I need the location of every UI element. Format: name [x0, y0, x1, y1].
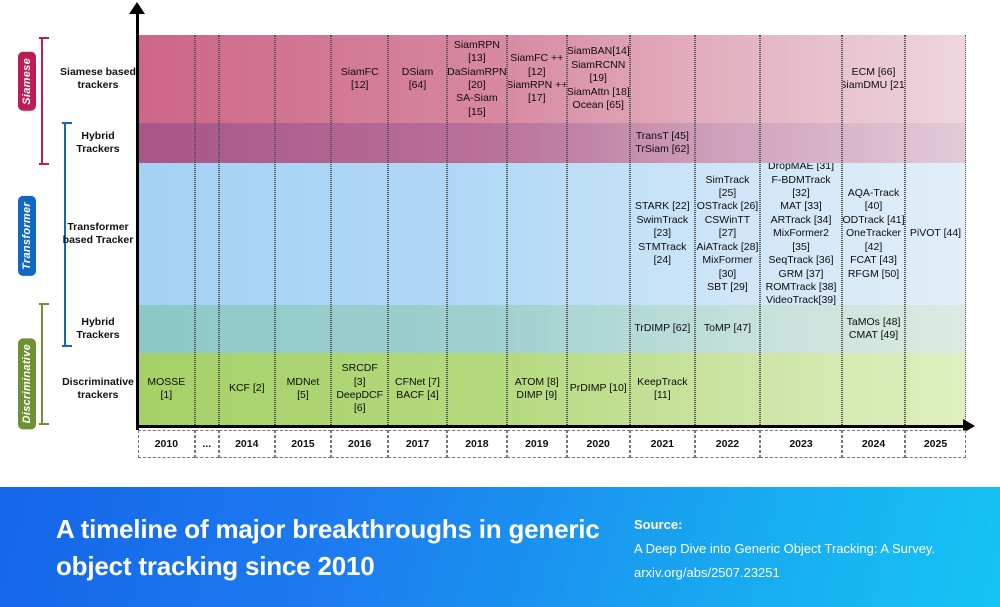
method-label: SiamFC [341, 66, 379, 79]
method-label: [32] [792, 187, 810, 200]
year-tick-2019: 2019 [507, 430, 567, 458]
bottom-banner: A timeline of major breakthroughs in gen… [0, 487, 1000, 607]
cell-2014-row2 [220, 123, 274, 163]
cell-2016-row3 [332, 163, 387, 305]
cell-2010-row4 [139, 305, 194, 353]
method-label: ARTrack [34] [771, 214, 832, 227]
method-label: TrDIMP [62] [634, 322, 690, 335]
cell-2019-row2 [508, 123, 566, 163]
row-label-column: Siamese basedtrackersHybridTrackersTrans… [58, 35, 138, 425]
year-tick-ellipsisellipsisellipsis: ... [195, 430, 219, 458]
method-label: [23] [654, 227, 672, 240]
method-label: SwimTrack [637, 214, 689, 227]
cell-2019-row3 [508, 163, 566, 305]
category-bracket-discriminative [41, 303, 43, 425]
method-label: STMTrack [638, 241, 686, 254]
method-label: [30] [719, 268, 737, 281]
cell-2024-row5 [843, 353, 904, 425]
method-label: TrSiam [62] [635, 143, 689, 156]
method-label: DSiam [402, 66, 434, 79]
method-label: [13] [468, 52, 486, 65]
method-label: OneTracker [846, 227, 901, 240]
cell-2014-row3 [220, 163, 274, 305]
year-tick-2016: 2016 [331, 430, 388, 458]
cell-2023-row3: DropMAE [31]F-BDMTrack[32]MAT [33]ARTrac… [761, 163, 841, 305]
cell-...-row1 [196, 35, 218, 123]
cell-2010-row1 [139, 35, 194, 123]
method-label: [25] [719, 187, 737, 200]
row-label-3: Transformerbased Tracker [58, 163, 138, 305]
cell-2014-row5: KCF [2] [220, 353, 274, 425]
cell-2024-row2 [843, 123, 904, 163]
method-label: SiamDMU [21] [843, 79, 904, 92]
year-column-2023: DropMAE [31]F-BDMTrack[32]MAT [33]ARTrac… [760, 35, 842, 425]
chart-grid: MOSSE[1]KCF [2]MDNet[5]SiamFC[12]SRCDF[3… [138, 35, 966, 425]
method-label: ATOM [8] [515, 376, 559, 389]
method-label: [17] [528, 92, 546, 105]
method-label: [12] [528, 66, 546, 79]
cell-2016-row1: SiamFC[12] [332, 35, 387, 123]
year-tick-2010: 2010 [138, 430, 195, 458]
method-label: ToMP [47] [704, 322, 751, 335]
cell-2018-row1: SiamRPN[13]DaSiamRPN[20]SA-Siam[15] [448, 35, 506, 123]
cell-2014-row4 [220, 305, 274, 353]
cell-2017-row2 [389, 123, 446, 163]
year-column-2025: PiVOT [44] [905, 35, 966, 425]
method-label: [20] [468, 79, 486, 92]
cell-2010-row2 [139, 123, 194, 163]
method-label: MDNet [287, 376, 320, 389]
cell-2018-row3 [448, 163, 506, 305]
cell-2021-row5: KeepTrack[11] [631, 353, 694, 425]
year-tick-2025: 2025 [905, 430, 966, 458]
cell-2018-row4 [448, 305, 506, 353]
year-tick-2017: 2017 [388, 430, 447, 458]
method-label: [27] [719, 227, 737, 240]
cell-2018-row2 [448, 123, 506, 163]
cell-2022-row5 [696, 353, 759, 425]
cell-2025-row5 [906, 353, 965, 425]
year-column-2010: MOSSE[1] [138, 35, 195, 425]
method-label: OSTrack [26] [697, 200, 758, 213]
cell-2016-row5: SRCDF[3]DeepDCF[6] [332, 353, 387, 425]
method-label: [12] [351, 79, 369, 92]
cell-2022-row4: ToMP [47] [696, 305, 759, 353]
method-label: PrDIMP [10] [570, 382, 627, 395]
method-label: [24] [654, 254, 672, 267]
method-label: SiamAttn [18] [568, 86, 629, 99]
method-label: PiVOT [44] [910, 227, 961, 240]
year-tick-2020: 2020 [567, 430, 630, 458]
cell-2023-row4 [761, 305, 841, 353]
method-label: STARK [22] [635, 200, 690, 213]
method-label: MixFormer2 [773, 227, 829, 240]
row-label-1: Siamese basedtrackers [58, 35, 138, 123]
method-label: ODTrack [41] [843, 214, 904, 227]
method-label: KCF [2] [229, 382, 265, 395]
source-label: Source: [634, 513, 979, 537]
row-label-5: Discriminativetrackers [58, 353, 138, 425]
method-label: [35] [792, 241, 810, 254]
cell-2021-row4: TrDIMP [62] [631, 305, 694, 353]
year-column-2022: SimTrack[25]OSTrack [26]CSWinTT[27]AiATr… [695, 35, 760, 425]
cell-2020-row1: SiamBAN[14]SiamRCNN[19]SiamAttn [18]Ocea… [568, 35, 629, 123]
method-label: SRCDF [342, 362, 378, 375]
x-axis [136, 425, 966, 428]
cell-2017-row1: DSiam[64] [389, 35, 446, 123]
method-label: [40] [865, 200, 883, 213]
year-column-2018: SiamRPN[13]DaSiamRPN[20]SA-Siam[15] [447, 35, 507, 425]
banner-title: A timeline of major breakthroughs in gen… [56, 511, 616, 585]
method-label: MixFormer [702, 254, 752, 267]
row-label-4: HybridTrackers [58, 305, 138, 353]
cell-2014-row1 [220, 35, 274, 123]
year-column-2014: KCF [2] [219, 35, 275, 425]
method-label: SiamBAN[14] [568, 45, 629, 58]
method-label: CSWinTT [705, 214, 751, 227]
cell-2018-row5 [448, 353, 506, 425]
timeline-chart: Siamese Transformer Discriminative MOSSE… [0, 0, 1000, 480]
method-label: SBT [29] [707, 281, 748, 294]
cell-2020-row2 [568, 123, 629, 163]
cell-2015-row2 [276, 123, 331, 163]
cell-2015-row5: MDNet[5] [276, 353, 331, 425]
method-label: [3] [354, 376, 366, 389]
year-tick-2022: 2022 [695, 430, 760, 458]
cell-2019-row1: SiamFC ++[12]SiamRPN ++[17] [508, 35, 566, 123]
cell-2015-row4 [276, 305, 331, 353]
year-tick-2024: 2024 [842, 430, 905, 458]
method-label: DaSiamRPN [448, 66, 506, 79]
method-label: RFGM [50] [848, 268, 899, 281]
cell-2010-row3 [139, 163, 194, 305]
cell-2010-row5: MOSSE[1] [139, 353, 194, 425]
cell-2024-row1: ECM [66]SiamDMU [21] [843, 35, 904, 123]
year-tick-2018: 2018 [447, 430, 507, 458]
year-column-2017: DSiam[64]CFNet [7]BACF [4] [388, 35, 447, 425]
method-label: [42] [865, 241, 883, 254]
cell-2020-row5: PrDIMP [10] [568, 353, 629, 425]
method-label: BACF [4] [396, 389, 439, 402]
banner-source: Source: A Deep Dive into Generic Object … [634, 513, 979, 585]
method-label: [6] [354, 402, 366, 415]
method-label: CFNet [7] [395, 376, 440, 389]
cell-2021-row2: TransT [45]TrSiam [62] [631, 123, 694, 163]
year-column-2024: ECM [66]SiamDMU [21]AQA-Track[40]ODTrack… [842, 35, 905, 425]
cell-2015-row3 [276, 163, 331, 305]
method-label: DeepDCF [336, 389, 383, 402]
method-label: TransT [45] [636, 130, 689, 143]
cell-...-row4 [196, 305, 218, 353]
method-label: MOSSE [147, 376, 185, 389]
source-text: A Deep Dive into Generic Object Tracking… [634, 537, 979, 585]
method-label: MAT [33] [780, 200, 822, 213]
year-tick-2015: 2015 [275, 430, 332, 458]
method-label: TaMOs [48] [847, 316, 901, 329]
method-label: AiATrack [28] [697, 241, 759, 254]
method-label: F-BDMTrack [771, 174, 830, 187]
method-label: ROMTrack [38] [766, 281, 837, 294]
cell-2022-row1 [696, 35, 759, 123]
cell-2019-row4 [508, 305, 566, 353]
year-column-2016: SiamFC[12]SRCDF[3]DeepDCF[6] [331, 35, 388, 425]
cell-2016-row2 [332, 123, 387, 163]
cell-2024-row4: TaMOs [48]CMAT [49] [843, 305, 904, 353]
cell-2022-row3: SimTrack[25]OSTrack [26]CSWinTT[27]AiATr… [696, 163, 759, 305]
cell-...-row2 [196, 123, 218, 163]
category-label-discriminative: Discriminative [18, 338, 36, 429]
row-label-2: HybridTrackers [58, 123, 138, 163]
cell-2015-row1 [276, 35, 331, 123]
year-tick-2023: 2023 [760, 430, 842, 458]
method-label: GRM [37] [779, 268, 824, 281]
cell-2020-row4 [568, 305, 629, 353]
cell-...-row3 [196, 163, 218, 305]
year-column-2021: TransT [45]TrSiam [62]STARK [22]SwimTrac… [630, 35, 695, 425]
cell-2025-row2 [906, 123, 965, 163]
cell-2021-row1 [631, 35, 694, 123]
method-label: ECM [66] [852, 66, 896, 79]
year-column-2020: SiamBAN[14]SiamRCNN[19]SiamAttn [18]Ocea… [567, 35, 630, 425]
method-label: [64] [409, 79, 427, 92]
cell-2023-row5 [761, 353, 841, 425]
method-label: SimTrack [705, 174, 749, 187]
year-column-2019: SiamFC ++[12]SiamRPN ++[17]ATOM [8]DIMP … [507, 35, 567, 425]
category-bracket-siamese [41, 37, 43, 165]
cell-2025-row3: PiVOT [44] [906, 163, 965, 305]
method-label: FCAT [43] [850, 254, 897, 267]
y-axis-arrow-icon [129, 2, 145, 14]
year-column-2015: MDNet[5] [275, 35, 332, 425]
method-label: VideoTrack[39] [766, 294, 836, 305]
method-label: [15] [468, 106, 486, 119]
method-label: [19] [589, 72, 607, 85]
year-tick-2021: 2021 [630, 430, 695, 458]
method-label: SiamFC ++ [510, 52, 563, 65]
cell-...-row5 [196, 353, 218, 425]
cell-2016-row4 [332, 305, 387, 353]
method-label: Ocean [65] [573, 99, 624, 112]
method-label: DIMP [9] [516, 389, 557, 402]
method-label: SiamRPN ++ [508, 79, 566, 92]
method-label: [11] [654, 389, 671, 402]
method-label: SeqTrack [36] [769, 254, 834, 267]
method-label: DropMAE [31] [768, 163, 834, 174]
cell-2024-row3: AQA-Track[40]ODTrack [41]OneTracker[42]F… [843, 163, 904, 305]
method-label: SiamRCNN [571, 59, 625, 72]
timeline-infographic: Siamese Transformer Discriminative MOSSE… [0, 0, 1000, 607]
cell-2017-row3 [389, 163, 446, 305]
cell-2017-row4 [389, 305, 446, 353]
cell-2023-row1 [761, 35, 841, 123]
method-label: [5] [297, 389, 309, 402]
year-column-ellipsisellipsisellipsis [195, 35, 219, 425]
cell-2022-row2 [696, 123, 759, 163]
cell-2021-row3: STARK [22]SwimTrack[23]STMTrack[24] [631, 163, 694, 305]
cell-2025-row4 [906, 305, 965, 353]
method-label: SiamRPN [454, 39, 500, 52]
method-label: [1] [161, 389, 173, 402]
method-label: KeepTrack [637, 376, 687, 389]
cell-2019-row5: ATOM [8]DIMP [9] [508, 353, 566, 425]
method-label: SA-Siam [456, 92, 497, 105]
cell-2017-row5: CFNet [7]BACF [4] [389, 353, 446, 425]
category-label-siamese: Siamese [18, 52, 36, 111]
method-label: AQA-Track [848, 187, 900, 200]
y-axis [136, 10, 139, 430]
cell-2025-row1 [906, 35, 965, 123]
cell-2023-row2 [761, 123, 841, 163]
category-label-transformer: Transformer [18, 196, 36, 276]
year-tick-2014: 2014 [219, 430, 275, 458]
method-label: CMAT [49] [849, 329, 898, 342]
cell-2020-row3 [568, 163, 629, 305]
year-axis-labels: 2010...201420152016201720182019202020212… [138, 430, 966, 458]
